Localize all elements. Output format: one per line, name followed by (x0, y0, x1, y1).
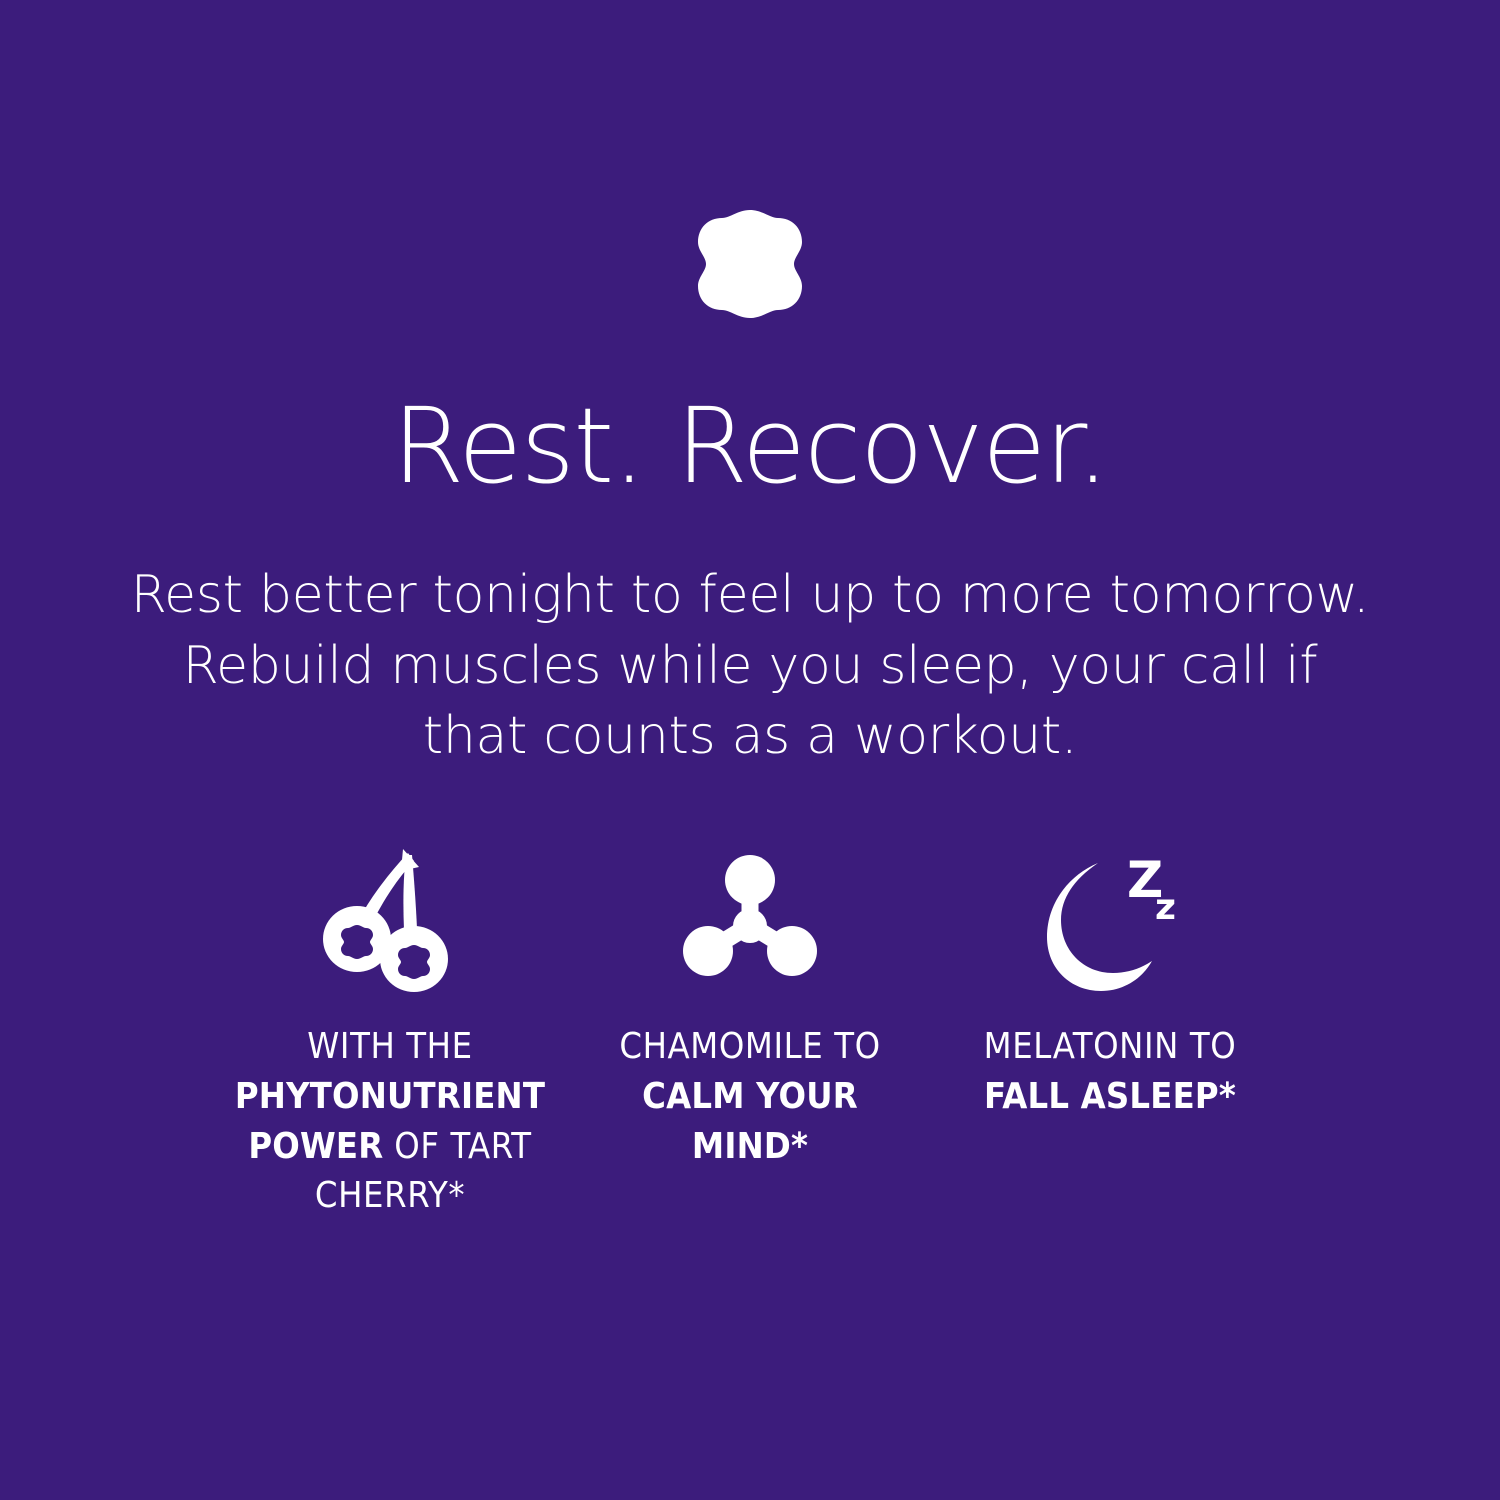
moon-zzz-icon: Z z (1035, 846, 1185, 996)
benefits-row: WITH THE PHYTONUTRIENT POWER OF TART CHE… (220, 846, 1280, 1221)
cherries-icon (315, 846, 465, 996)
benefit-caption: MELATONIN TO FALL ASLEEP* (940, 1022, 1280, 1121)
benefit-item: CHAMOMILE TO CALM YOUR MIND* (580, 846, 920, 1171)
page-title: Rest. Recover. (0, 394, 1500, 498)
benefit-caption-plain-1: CHAMOMILE TO (619, 1026, 880, 1067)
benefit-caption-bold-1: CALM YOUR MIND* (642, 1076, 858, 1167)
molecule-icon (675, 846, 825, 996)
benefit-caption-bold-1: FALL ASLEEP* (984, 1076, 1236, 1117)
promo-poster: Rest. Recover. Rest better tonight to fe… (0, 0, 1500, 1500)
svg-text:z: z (1155, 887, 1176, 928)
lede-paragraph: Rest better tonight to feel up to more t… (130, 560, 1370, 772)
benefit-caption-plain-1: MELATONIN TO (984, 1026, 1237, 1067)
benefit-caption-plain-1: WITH THE (307, 1026, 472, 1067)
benefit-caption: WITH THE PHYTONUTRIENT POWER OF TART CHE… (220, 1022, 560, 1221)
quatrefoil-logo-icon (696, 208, 804, 320)
benefit-item: Z z MELATONIN TO FALL ASLEEP* (940, 846, 1280, 1121)
benefit-item: WITH THE PHYTONUTRIENT POWER OF TART CHE… (220, 846, 560, 1221)
benefit-caption: CHAMOMILE TO CALM YOUR MIND* (580, 1022, 920, 1171)
